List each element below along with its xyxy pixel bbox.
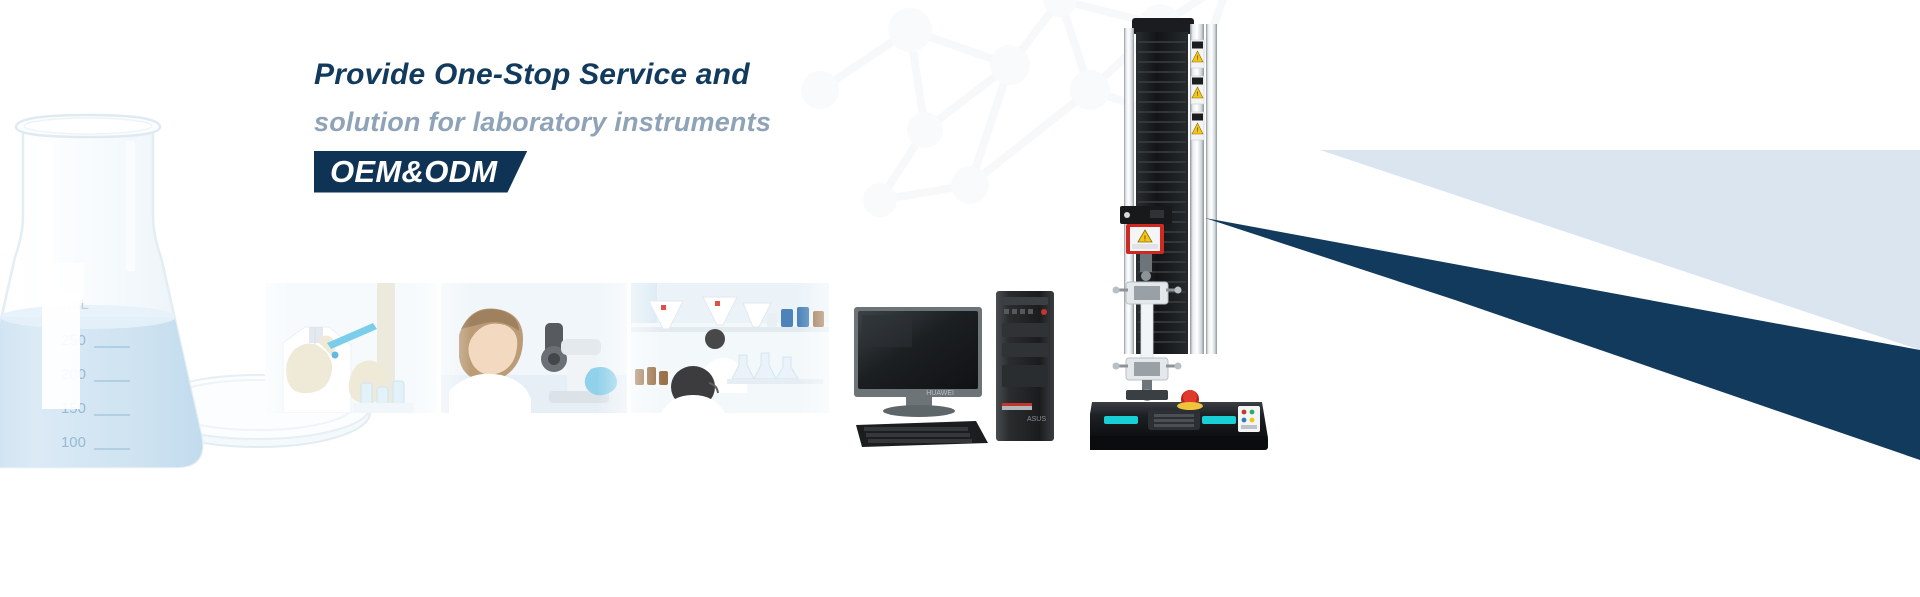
machine-rail-right xyxy=(1190,24,1204,354)
banner-stage: 250 200 150 100 mL Provide One-Stop Serv… xyxy=(0,0,1920,597)
monitor: HUAWEI xyxy=(854,307,982,417)
machine-rail-left xyxy=(1124,28,1134,354)
oem-odm-badge: OEM&ODM xyxy=(314,151,527,193)
keyboard xyxy=(856,421,988,447)
machine-top-cap xyxy=(1132,18,1194,34)
svg-text:ASUS: ASUS xyxy=(1027,416,1046,423)
photo-microscope xyxy=(441,283,627,413)
headline-line-2: solution for laboratory instruments xyxy=(314,107,1074,138)
warning-labels: ! ! ! xyxy=(1191,40,1204,140)
photo-strip xyxy=(265,283,829,413)
machine-crosshead xyxy=(1120,206,1172,224)
machine-load-cell: ! xyxy=(1126,224,1164,254)
photo-lab-team xyxy=(631,283,829,413)
photo-pipetting xyxy=(265,283,437,413)
svg-text:!: ! xyxy=(1144,236,1146,243)
headline-block: Provide One-Stop Service and solution fo… xyxy=(314,58,1074,193)
headline-line-1: Provide One-Stop Service and xyxy=(314,58,1074,93)
desktop-computer: HUAWEI ASUS xyxy=(848,285,1063,450)
pc-tower: ASUS xyxy=(996,291,1054,441)
svg-text:HUAWEI: HUAWEI xyxy=(926,390,954,397)
machine-specimen xyxy=(1141,304,1153,360)
badge-row: OEM&ODM xyxy=(314,151,1074,193)
arrow-dark xyxy=(1205,140,1920,460)
